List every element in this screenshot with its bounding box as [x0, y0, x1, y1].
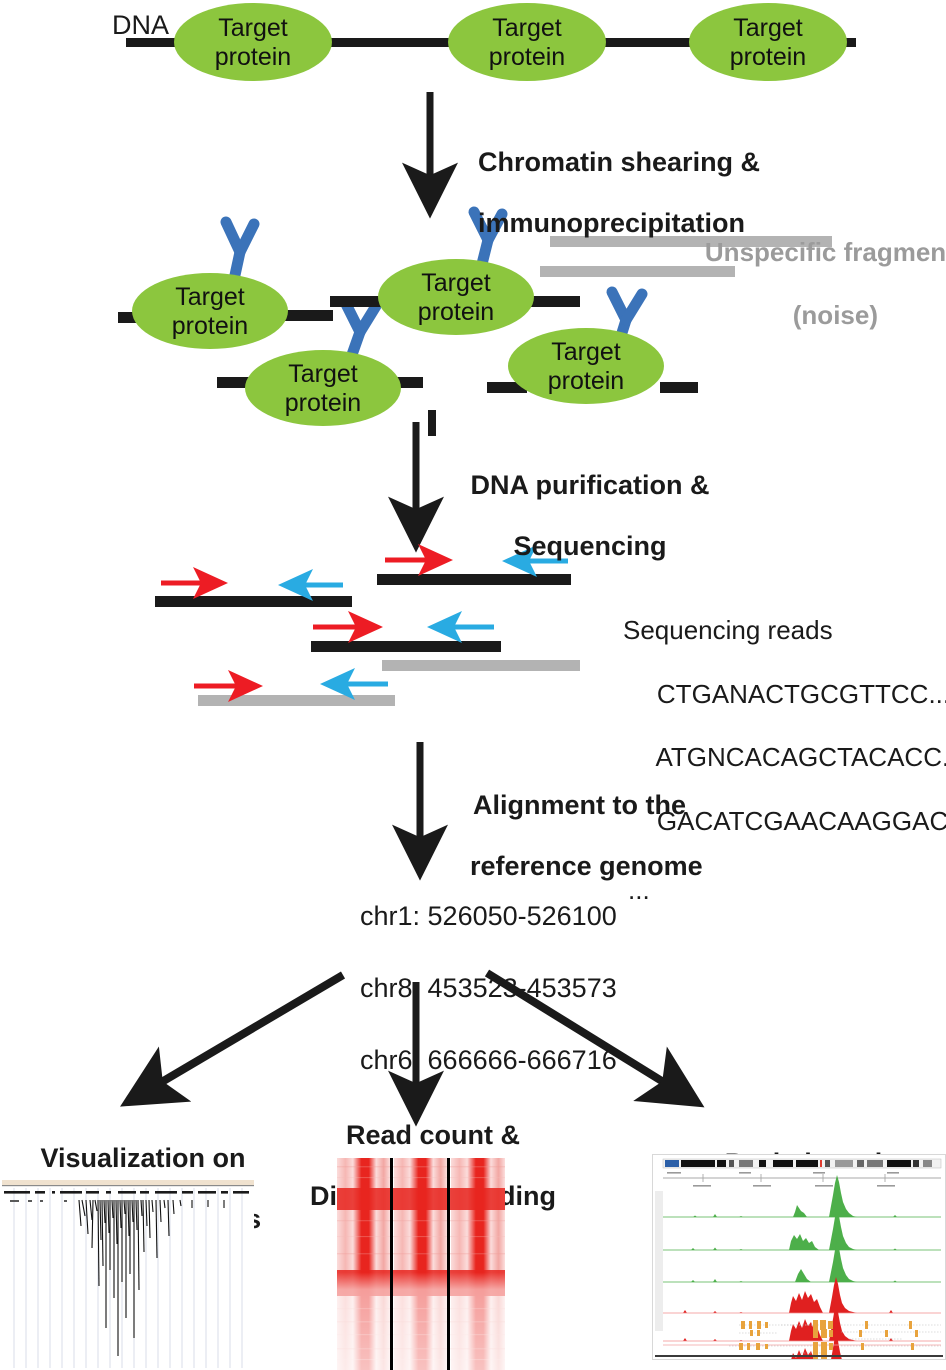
peak-detection-panel[interactable]	[652, 1154, 946, 1360]
unspecific-fragments-label: Unspecific fragments (noise)	[676, 206, 946, 393]
stage1-protein-3	[689, 3, 847, 81]
noise-label-line2: (noise)	[676, 300, 946, 331]
figure-canvas: DNA Target protein Target protein Target…	[0, 0, 946, 1370]
heatmap-plot	[337, 1158, 505, 1370]
stage2-protein-2	[378, 259, 534, 335]
stage1-protein-2	[448, 3, 606, 81]
read-fragment-2	[155, 583, 352, 607]
panel-title-line1: Visualization on	[40, 1143, 245, 1173]
genome-browser-plot	[2, 1178, 254, 1368]
step-label-line1: Alignment to the	[473, 790, 686, 820]
workflow-arrow-branch-left	[160, 975, 343, 1083]
read-fragment-3	[311, 627, 501, 652]
coordinate-line: chr1: 526050-526100	[360, 901, 617, 931]
peak-browser-plot	[653, 1155, 945, 1359]
genome-browser-panel[interactable]	[2, 1178, 254, 1368]
read-fragment-4-noise	[382, 660, 580, 671]
differential-binding-heatmap[interactable]	[337, 1158, 505, 1370]
read-fragment-5-noise	[194, 684, 395, 706]
stage2-protein-3	[245, 350, 401, 426]
sequence-line: ATGNCACAGCTACACC...	[655, 742, 946, 772]
track-label-gutter	[655, 1191, 663, 1331]
dna-label: DNA	[112, 10, 169, 40]
step-label-line1: DNA purification &	[471, 470, 710, 500]
stage1-protein-1	[174, 3, 332, 81]
aligned-coordinates-list: chr1: 526050-526100 chr8: 453523-453573 …	[330, 863, 617, 1114]
panel-title-line1: Read count &	[346, 1120, 520, 1150]
sequence-line: CTGANACTGCGTTCC...	[657, 679, 946, 709]
stage2-protein-4	[508, 328, 664, 404]
annotation-ticks	[4, 1191, 249, 1194]
coordinate-line: chr6: 666666-666716	[360, 1045, 617, 1075]
coordinate-line: chr8: 453523-453573	[360, 973, 617, 1003]
sequencing-reads-heading: Sequencing reads	[623, 615, 946, 647]
stage2-protein-1	[132, 273, 288, 349]
sequence-line: GACATCGAACAAGGAC...	[657, 806, 946, 836]
chromosome-ideogram	[663, 1159, 941, 1168]
noise-label-line1: Unspecific fragments	[705, 237, 946, 267]
step-label-line1: Chromatin shearing &	[478, 147, 760, 177]
